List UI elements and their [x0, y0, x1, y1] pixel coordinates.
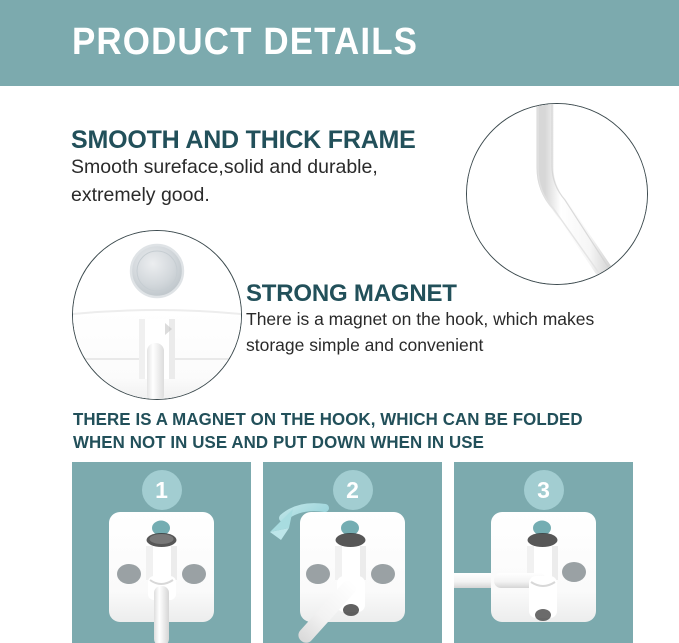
magnet-right [371, 564, 395, 584]
step-panel-1: 1 [72, 462, 251, 643]
magnet-hook-closeup-photo [72, 230, 242, 400]
step-badge-1: 1 [142, 470, 182, 510]
step-badge-3: 3 [524, 470, 564, 510]
magnet-right [562, 562, 586, 582]
header-banner: PRODUCT DETAILS [0, 0, 679, 86]
step-panel-3: 3 [454, 462, 633, 643]
magnet-left [117, 564, 141, 584]
section-body-smooth-frame: Smooth sureface,solid and durable, extre… [71, 153, 451, 209]
product-details-infographic: PRODUCT DETAILS SMOOTH AND THICK FRAME S… [0, 0, 679, 643]
bent-rod-closeup-photo [466, 103, 648, 285]
magnet-right [182, 564, 206, 584]
steps-headline: THERE IS A MAGNET ON THE HOOK, WHICH CAN… [73, 408, 612, 454]
page-title: PRODUCT DETAILS [72, 21, 418, 64]
magnet-left [306, 564, 330, 584]
section-heading-strong-magnet: STRONG MAGNET [246, 280, 457, 308]
step-badge-2: 2 [333, 470, 373, 510]
bent-rod-illustration [467, 104, 647, 284]
rod-vertical [154, 586, 169, 643]
step-panels: 1 [72, 462, 634, 643]
magnet-hook-illustration [73, 231, 241, 399]
magnet-disc [131, 245, 183, 297]
section-body-strong-magnet: There is a magnet on the hook, which mak… [246, 306, 646, 358]
section-heading-smooth-frame: SMOOTH AND THICK FRAME [71, 126, 416, 155]
step-panel-2: 2 [263, 462, 442, 643]
